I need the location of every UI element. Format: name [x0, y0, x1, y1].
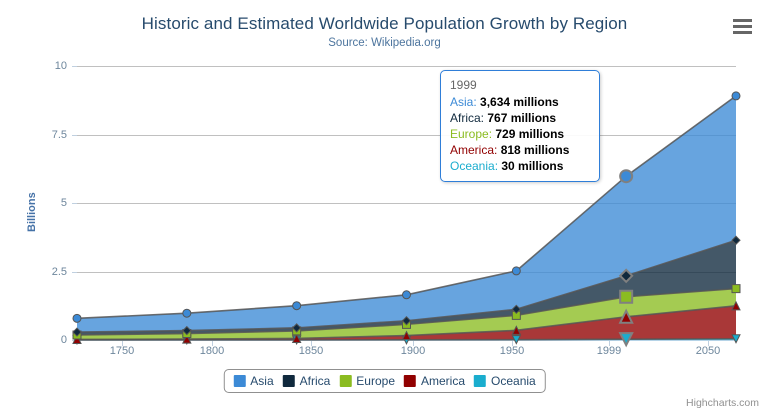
menu-bar-2 [733, 25, 752, 28]
y-axis-title: Billions [26, 192, 38, 232]
legend-item-oceania[interactable]: Oceania [474, 374, 536, 388]
x-axis-label-1850: 1850 [281, 345, 341, 357]
y-axis-label-10: 10 [22, 60, 67, 72]
chart-title: Historic and Estimated Worldwide Populat… [0, 14, 769, 34]
legend-label-asia: Asia [250, 374, 273, 388]
legend-swatch-europe [339, 375, 351, 387]
gridline-5 [77, 203, 736, 204]
chart-subtitle: Source: Wikipedia.org [0, 37, 769, 49]
tooltip-series-value: 3,634 millions [480, 95, 559, 109]
tooltip-series-value: 818 millions [501, 143, 570, 157]
x-axis-label-1950: 1950 [482, 345, 542, 357]
legend-label-africa: Africa [300, 374, 331, 388]
highcharts-container: Historic and Estimated Worldwide Populat… [0, 0, 769, 416]
menu-bar-3 [733, 31, 752, 34]
tooltip-row-asia: Asia: 3,634 millions [450, 94, 590, 110]
hamburger-menu-icon[interactable] [730, 15, 754, 37]
legend-swatch-africa [283, 375, 295, 387]
legend: Asia Africa Europe America Oceania [223, 369, 545, 393]
legend-item-europe[interactable]: Europe [339, 374, 395, 388]
legend-item-africa[interactable]: Africa [283, 374, 331, 388]
y-axis-label-0: 0 [22, 334, 67, 346]
legend-label-america: America [421, 374, 465, 388]
y-axis-label-7.5: 7.5 [22, 129, 67, 141]
legend-label-oceania: Oceania [491, 374, 536, 388]
tooltip-row-africa: Africa: 767 millions [450, 110, 590, 126]
tooltip-series-name: Oceania: [450, 159, 501, 173]
tooltip-rows: Asia: 3,634 millionsAfrica: 767 millions… [450, 94, 590, 174]
legend-label-europe: Europe [356, 374, 395, 388]
legend-swatch-america [404, 375, 416, 387]
gridline-7.5 [77, 135, 736, 136]
credits-label: Highcharts.com [686, 397, 759, 409]
y-tick-0 [72, 340, 77, 341]
y-tick-5 [72, 203, 77, 204]
x-axis-label-2050: 2050 [678, 345, 738, 357]
tooltip-row-europe: Europe: 729 millions [450, 126, 590, 142]
tooltip-series-value: 30 millions [501, 159, 563, 173]
y-axis-label-2.5: 2.5 [22, 266, 67, 278]
x-axis-label-1900: 1900 [383, 345, 443, 357]
tooltip-series-value: 767 millions [487, 111, 556, 125]
legend-swatch-asia [233, 375, 245, 387]
legend-swatch-oceania [474, 375, 486, 387]
x-axis-line [77, 340, 736, 341]
x-axis-label-1999: 1999 [579, 345, 639, 357]
gridline-2.5 [77, 272, 736, 273]
menu-bar-1 [733, 19, 752, 22]
legend-item-america[interactable]: America [404, 374, 465, 388]
tooltip-row-america: America: 818 millions [450, 142, 590, 158]
legend-item-asia[interactable]: Asia [233, 374, 273, 388]
tooltip-series-name: America: [450, 143, 501, 157]
x-axis-label-1750: 1750 [92, 345, 152, 357]
y-tick-7.5 [72, 135, 77, 136]
tooltip-header: 1999 [450, 77, 590, 93]
tooltip: 1999 Asia: 3,634 millionsAfrica: 767 mil… [440, 70, 600, 182]
y-tick-2.5 [72, 272, 77, 273]
x-axis-label-1800: 1800 [182, 345, 242, 357]
tooltip-series-name: Africa: [450, 111, 487, 125]
tooltip-series-name: Asia: [450, 95, 480, 109]
tooltip-series-value: 729 millions [495, 127, 564, 141]
tooltip-series-name: Europe: [450, 127, 495, 141]
plot-area [77, 66, 736, 340]
gridline-10 [77, 66, 736, 67]
y-tick-10 [72, 66, 77, 67]
tooltip-row-oceania: Oceania: 30 millions [450, 158, 590, 174]
